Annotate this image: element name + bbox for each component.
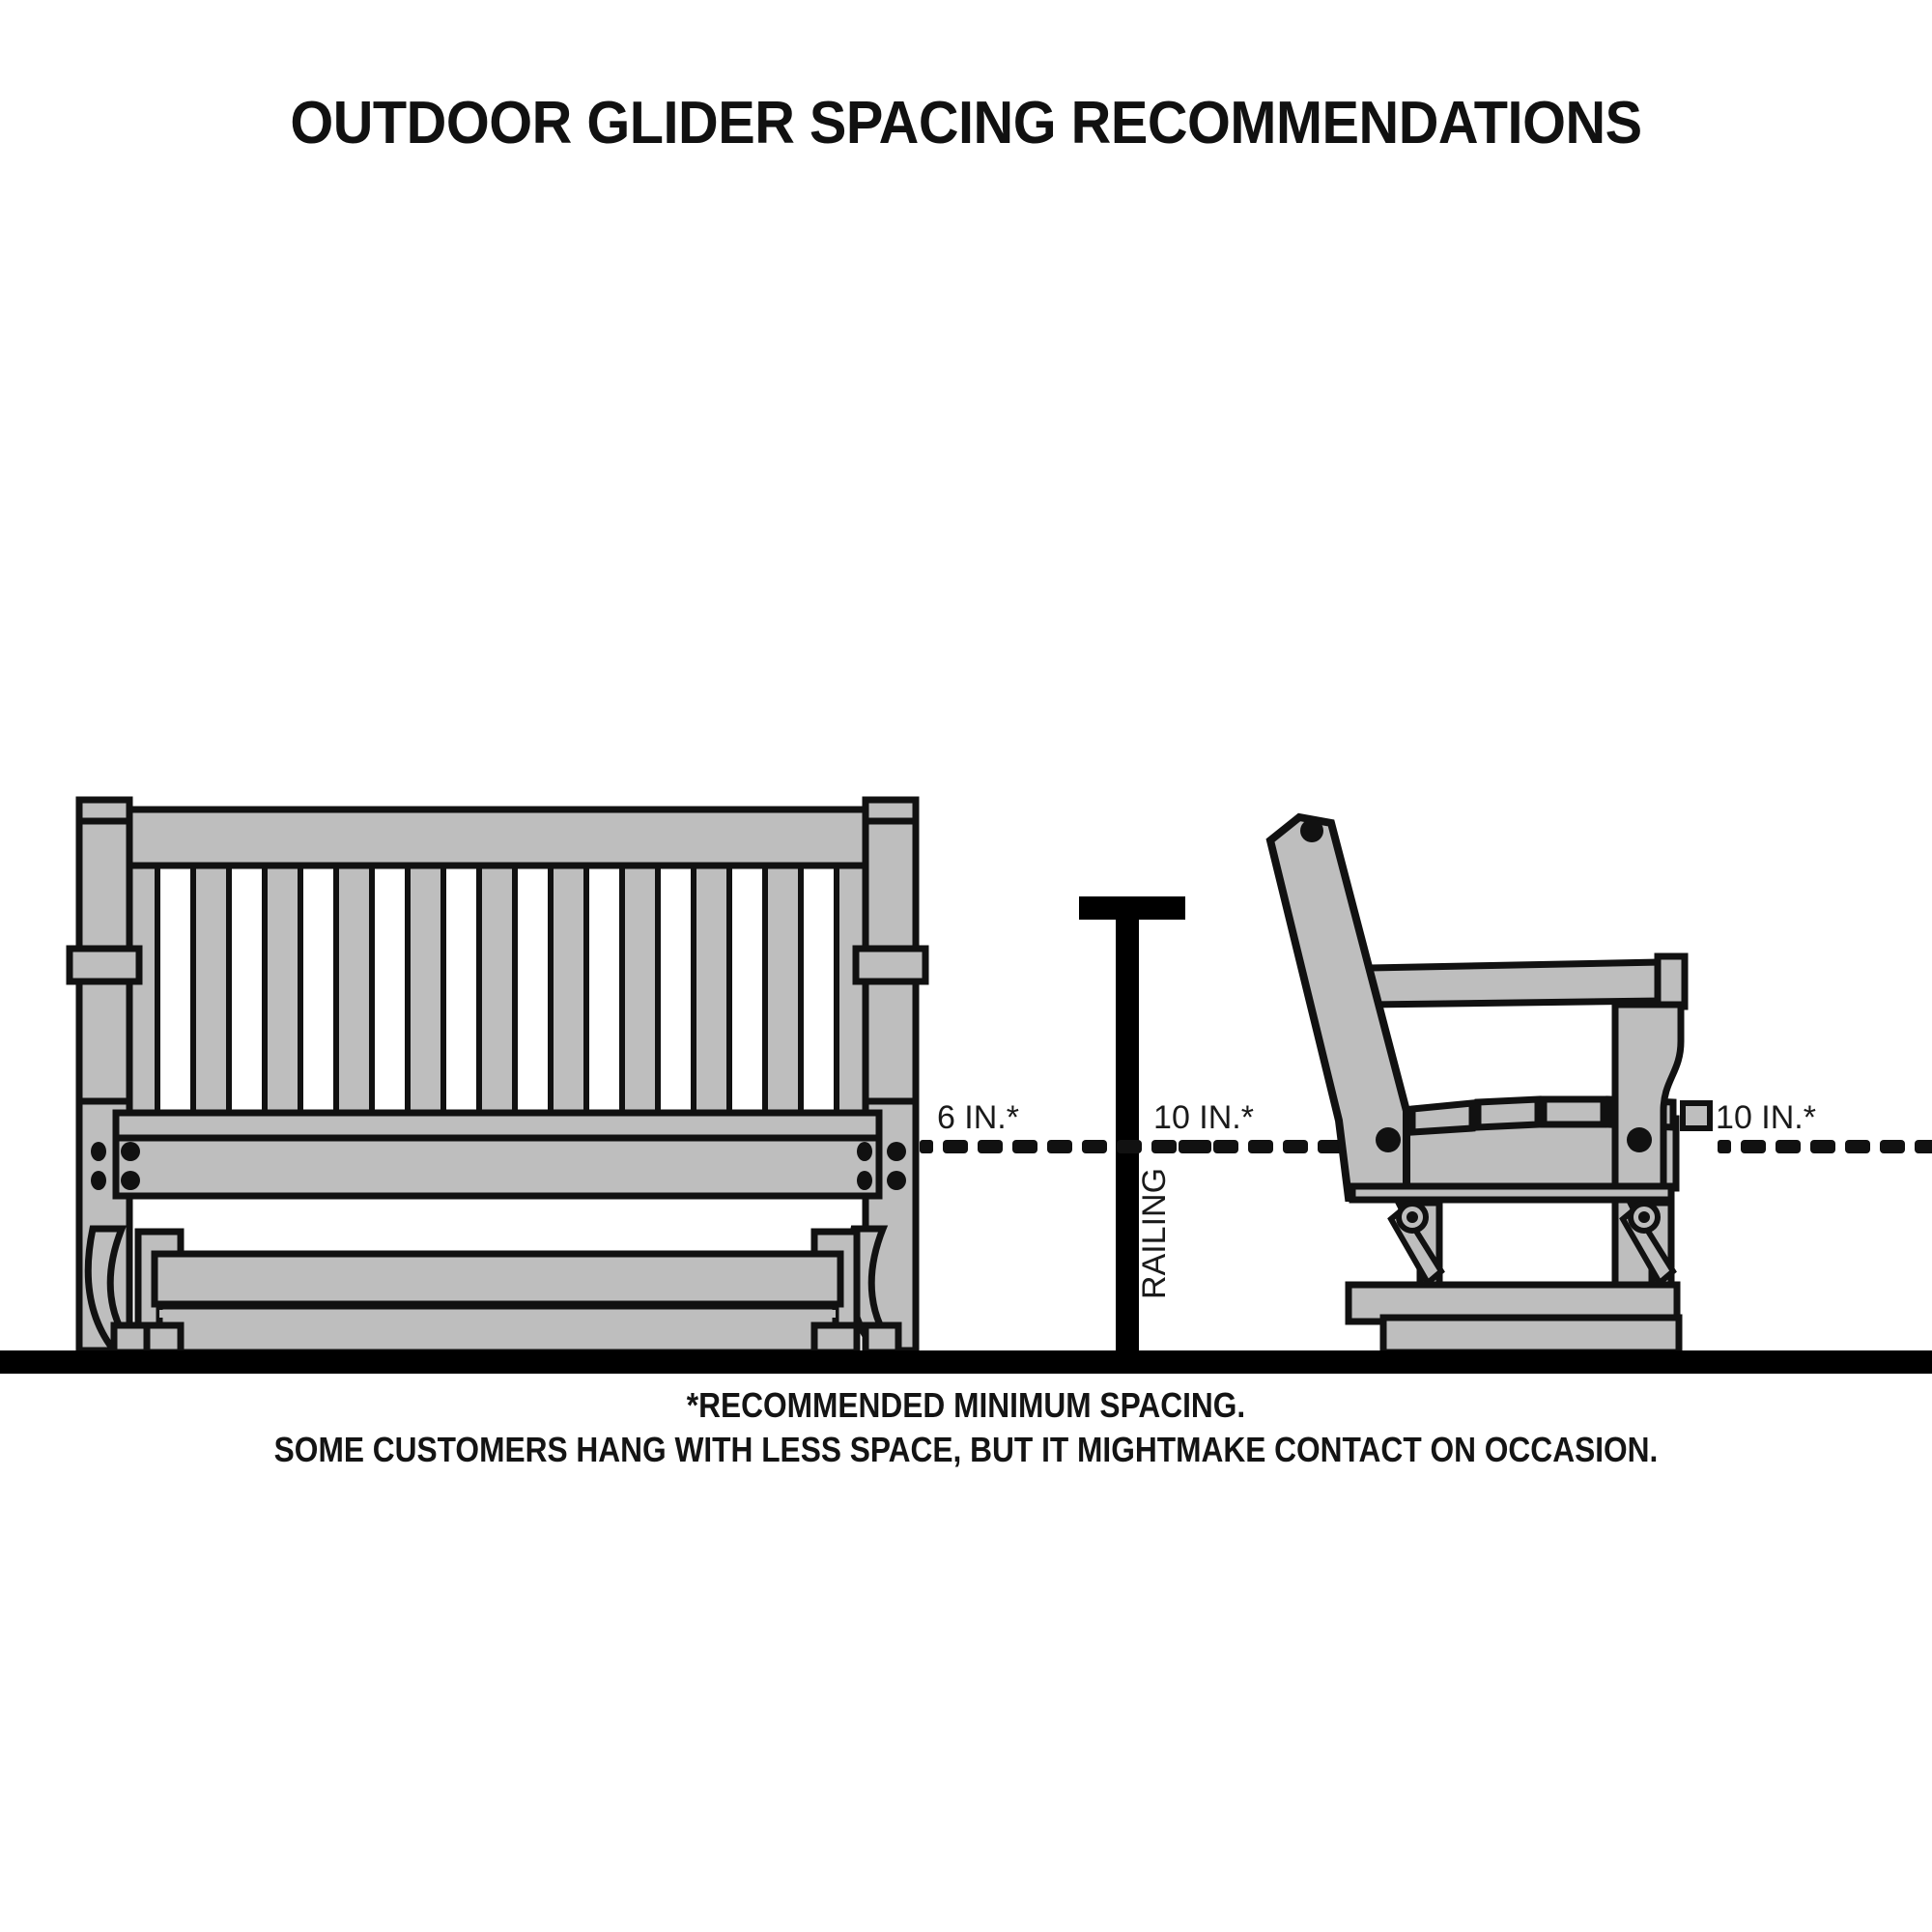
backrest-slat [765,863,801,1116]
seat-apron [116,1138,879,1196]
backrest-slat [300,863,336,1116]
backrest-slat [729,863,765,1116]
dimension-label-1: 6 IN.* [937,1099,1019,1136]
backrest-slat [622,863,658,1116]
glide-shoe-left [114,1325,147,1352]
seat-slat [1412,1103,1472,1132]
glide-shoe-right [866,1325,898,1352]
backrest-slat [336,863,372,1116]
backrest-slat [515,863,551,1116]
seat-front-rail [116,1113,879,1138]
right-post-bracket [856,949,925,981]
glider-front-view [70,800,925,1352]
seat-slat [1478,1099,1538,1127]
backrest-slat [694,863,729,1116]
bolt-icon [121,1171,140,1190]
backrest-slat [193,863,229,1116]
backrest-slat [265,863,300,1116]
base-stretcher-upper [159,1310,836,1318]
dimension-label-3: 10 IN.* [1716,1099,1816,1136]
diagram-page: OUTDOOR GLIDER SPACING RECOMMENDATIONS [0,0,1932,1932]
glider-side-view [1270,817,1710,1352]
caption-block: *RECOMMENDED MINIMUM SPACING. SOME CUSTO… [0,1383,1932,1472]
pivot-bolt-core-icon [1406,1211,1418,1223]
backrest-slat [229,863,265,1116]
pivot-bolt-core-icon [1638,1211,1650,1223]
backrest-slat-group [122,863,872,1116]
backrest-slat [157,863,193,1116]
ground-line [0,1350,1932,1374]
backrest-slat [408,863,443,1116]
armrest [1370,962,1662,1005]
base-crossbar [155,1254,840,1304]
bolt-icon [887,1142,906,1161]
backrest-slat [443,863,479,1116]
backrest-slat [801,863,837,1116]
seat-slat [1544,1099,1604,1124]
back-top-rail [116,810,879,866]
bolt-icon [91,1171,106,1190]
caption-line-1: *RECOMMENDED MINIMUM SPACING. [116,1383,1816,1428]
bolt-icon [1300,819,1323,842]
bolt-icon [121,1142,140,1161]
foot-pad-right [814,1325,857,1352]
dimension-label-2: 10 IN.* [1153,1099,1254,1136]
backrest-slat [479,863,515,1116]
backrest-slat [551,863,586,1116]
armrest-end-cap [1658,956,1685,1007]
caption-line-2: SOME CUSTOMERS HANG WITH LESS SPACE, BUT… [116,1428,1816,1472]
armrest-peg [1683,1103,1710,1128]
backrest-slat [372,863,408,1116]
bolt-icon [91,1142,106,1161]
base-foot-rail [1383,1318,1679,1352]
bolt-icon [1376,1127,1401,1152]
dimension-leader-3 [1718,1140,1932,1153]
bolt-icon [857,1142,872,1161]
bolt-icon [887,1171,906,1190]
dimension-callout-10in-b: 10 IN.* [1716,1099,1932,1153]
bolt-icon [1627,1127,1652,1152]
left-post-bracket [70,949,139,981]
backrest-slat [658,863,694,1116]
under-seat-rail [1352,1186,1671,1200]
railing-label: RAILING [1136,1168,1173,1299]
bolt-icon [857,1171,872,1190]
glider-spacing-diagram: RAILING 6 IN.* 10 IN.* 10 IN.* [0,0,1932,1932]
backrest-slat [586,863,622,1116]
